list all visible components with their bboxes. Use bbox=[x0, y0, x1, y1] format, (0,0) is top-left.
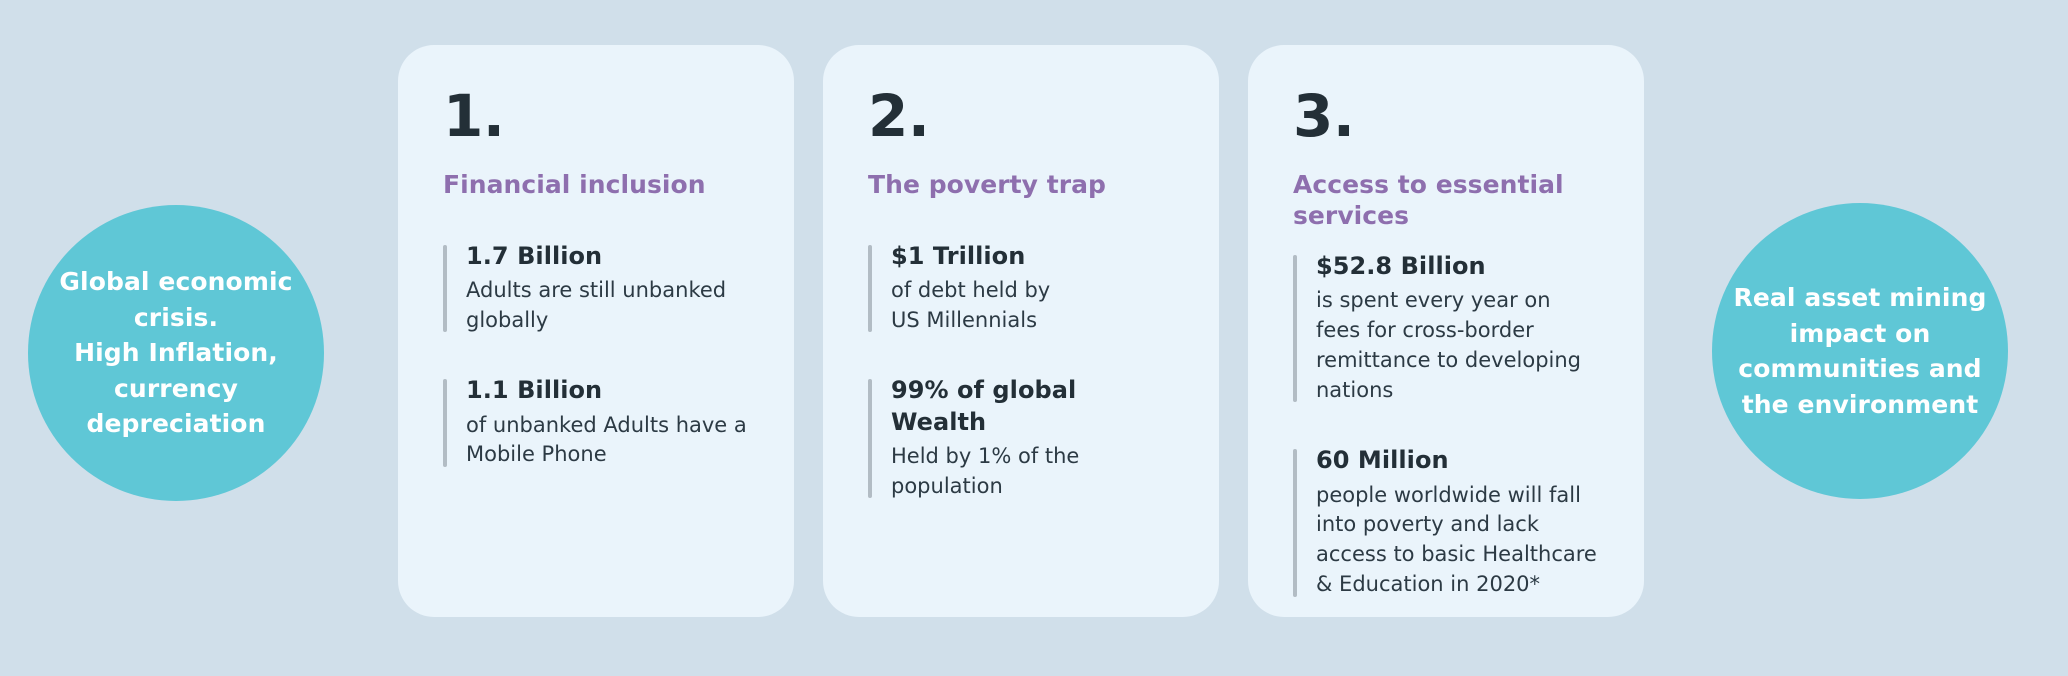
stat-item: 99% of global Wealth Held by 1% of the p… bbox=[868, 375, 1174, 501]
card-access-to-essential-services: 3. Access to essential services $52.8 Bi… bbox=[1248, 45, 1644, 617]
stat-value: 99% of global Wealth bbox=[891, 375, 1174, 437]
card-title: Financial inclusion bbox=[443, 170, 749, 201]
stats-list: 1.7 Billion Adults are still unbanked gl… bbox=[443, 241, 749, 471]
card-title: Access to essential services bbox=[1293, 170, 1599, 231]
card-number: 2. bbox=[868, 87, 1174, 145]
stat-item: 1.1 Billion of unbanked Adults have a Mo… bbox=[443, 375, 749, 470]
stats-list: $52.8 Billion is spent every year on fee… bbox=[1293, 251, 1599, 600]
stat-description: Adults are still unbanked globally bbox=[466, 276, 749, 336]
stat-value: 60 Million bbox=[1316, 445, 1599, 476]
circle-real-asset-mining-impact: Real asset mining impact on communities … bbox=[1712, 203, 2008, 499]
card-title: The poverty trap bbox=[868, 170, 1174, 201]
stat-item: $52.8 Billion is spent every year on fee… bbox=[1293, 251, 1599, 405]
stat-description: of unbanked Adults have a Mobile Phone bbox=[466, 411, 749, 471]
stat-value: $1 Trillion bbox=[891, 241, 1174, 272]
cards-row: 1. Financial inclusion 1.7 Billion Adult… bbox=[398, 45, 1644, 617]
circle-right-text: Real asset mining impact on communities … bbox=[1712, 280, 2008, 422]
stat-description: is spent every year on fees for cross-bo… bbox=[1316, 286, 1599, 405]
circle-left-text: Global economic crisis. High Inflation, … bbox=[28, 264, 324, 442]
stat-item: 60 Million people worldwide will fall in… bbox=[1293, 445, 1599, 599]
circle-global-economic-crisis: Global economic crisis. High Inflation, … bbox=[28, 205, 324, 501]
stat-description: of debt held by US Millennials bbox=[891, 276, 1174, 336]
card-number: 1. bbox=[443, 87, 749, 145]
stat-item: 1.7 Billion Adults are still unbanked gl… bbox=[443, 241, 749, 336]
card-financial-inclusion: 1. Financial inclusion 1.7 Billion Adult… bbox=[398, 45, 794, 617]
stat-value: $52.8 Billion bbox=[1316, 251, 1599, 282]
infographic-stage: Global economic crisis. High Inflation, … bbox=[0, 0, 2068, 676]
stats-list: $1 Trillion of debt held by US Millennia… bbox=[868, 241, 1174, 502]
stat-value: 1.7 Billion bbox=[466, 241, 749, 272]
stat-description: people worldwide will fall into poverty … bbox=[1316, 481, 1599, 600]
card-poverty-trap: 2. The poverty trap $1 Trillion of debt … bbox=[823, 45, 1219, 617]
card-number: 3. bbox=[1293, 87, 1599, 145]
stat-value: 1.1 Billion bbox=[466, 375, 749, 406]
stat-item: $1 Trillion of debt held by US Millennia… bbox=[868, 241, 1174, 336]
stat-description: Held by 1% of the population bbox=[891, 442, 1174, 502]
